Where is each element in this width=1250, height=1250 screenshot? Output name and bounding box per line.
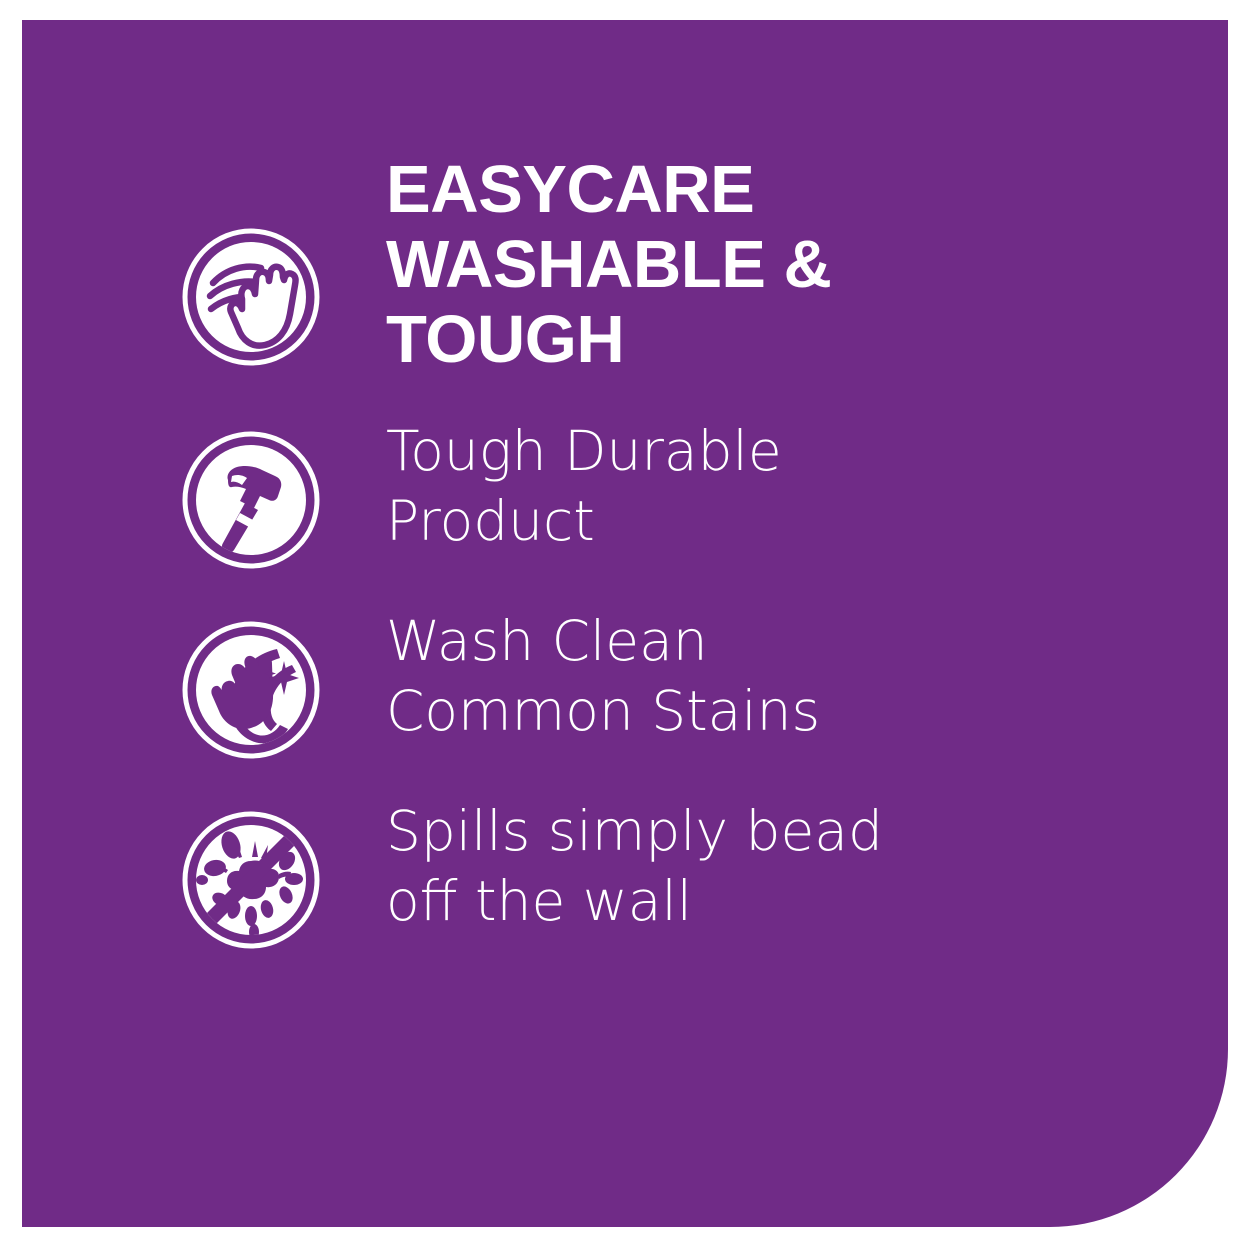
- feature-list: EASYCARE WASHABLE & TOUGH: [182, 150, 1182, 987]
- hand-wipe-sparkle-icon: [182, 621, 320, 759]
- page-title: EASYCARE WASHABLE & TOUGH: [386, 150, 1182, 377]
- feature-text-cell-3: Spills simply bead off the wall: [320, 797, 1182, 937]
- headline-row: EASYCARE WASHABLE & TOUGH: [182, 150, 1182, 377]
- headline-text-cell: EASYCARE WASHABLE & TOUGH: [320, 150, 1182, 377]
- feature-row-wash-clean: Wash Clean Common Stains: [182, 607, 1182, 759]
- feature-text-cell-1: Tough Durable Product: [320, 417, 1182, 557]
- promo-poster: EASYCARE WASHABLE & TOUGH: [0, 0, 1250, 1250]
- feature-row-spills-bead: Spills simply bead off the wall: [182, 797, 1182, 949]
- no-splash-icon: [182, 811, 320, 949]
- feature-label: Spills simply bead off the wall: [386, 797, 1182, 937]
- hammer-icon: [182, 431, 320, 569]
- feature-row-tough-durable: Tough Durable Product: [182, 417, 1182, 569]
- washing-hands-icon: [182, 228, 320, 366]
- feature-text-cell-2: Wash Clean Common Stains: [320, 607, 1182, 747]
- feature-label: Wash Clean Common Stains: [386, 607, 1182, 747]
- feature-label: Tough Durable Product: [386, 417, 1182, 557]
